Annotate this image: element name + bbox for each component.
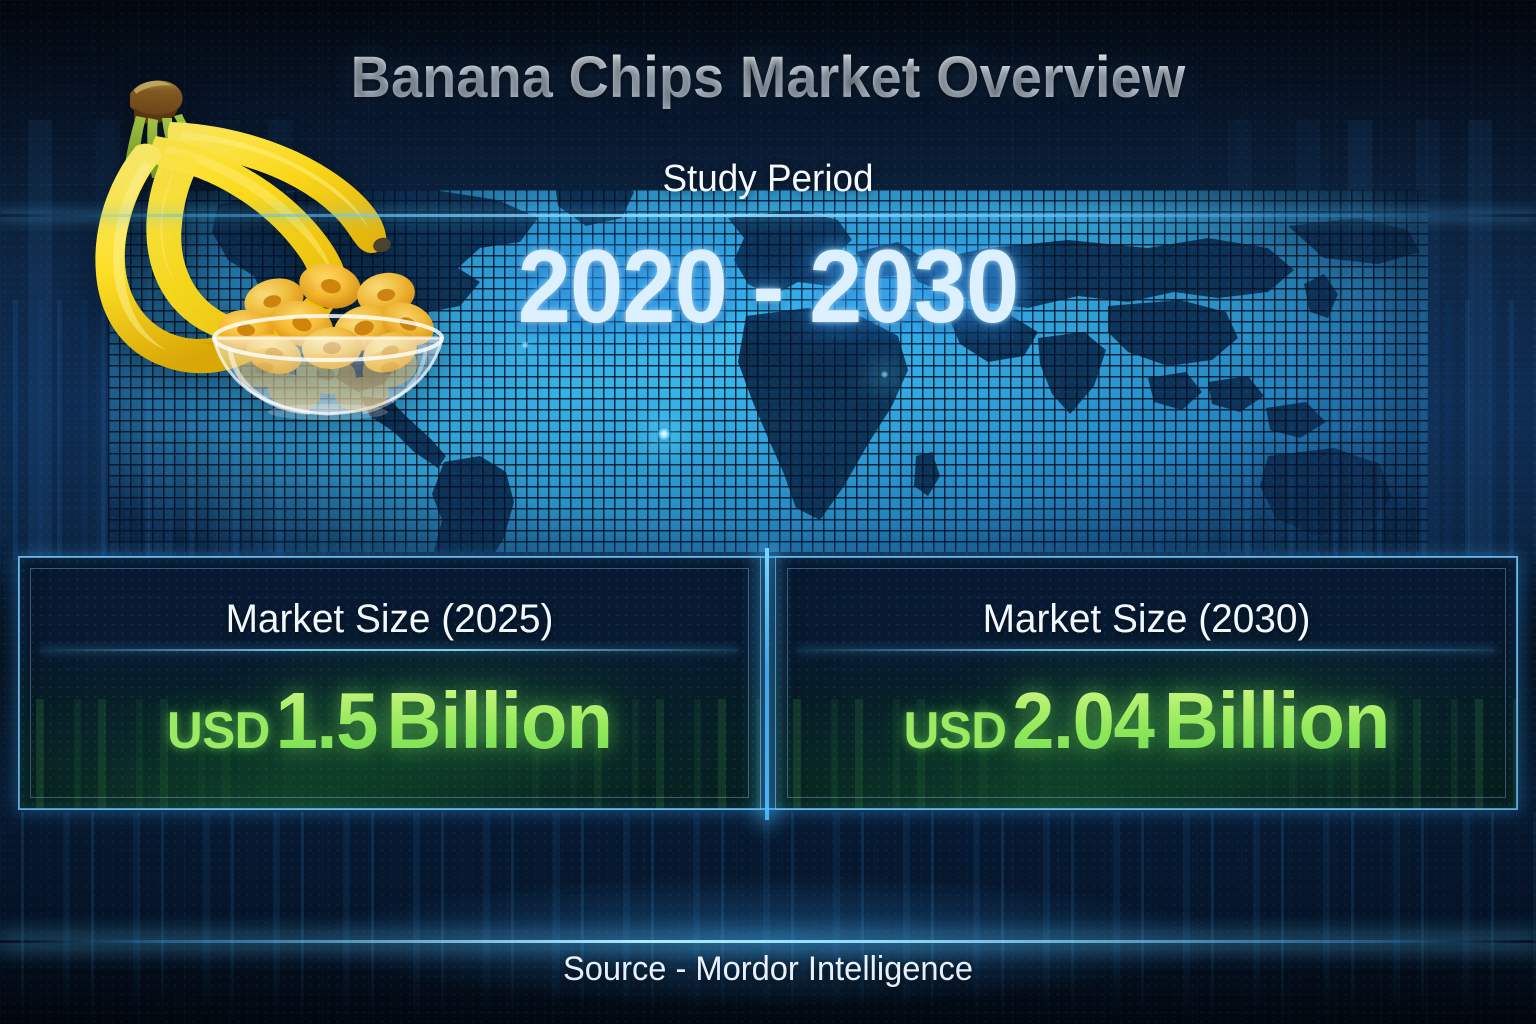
currency-label: USD (904, 702, 1007, 760)
footer-glow-line (0, 940, 1536, 943)
footer-zone: Source - Mordor Intelligence (0, 812, 1536, 1024)
panel-heading-2030: Market Size (2030) (787, 597, 1506, 642)
market-size-panel-2030[interactable]: Market Size (2030) USD2.04Billion (775, 556, 1518, 810)
value-number: 1.5 (276, 676, 377, 765)
study-period-range: 2020 - 2030 (61, 228, 1474, 347)
source-attribution: Source - Mordor Intelligence (31, 950, 1506, 989)
study-period-divider (0, 214, 1536, 217)
value-unit: Billion (1164, 676, 1390, 765)
panel-value-2030: USD2.04Billion (795, 675, 1499, 767)
study-period-label: Study Period (23, 158, 1513, 201)
value-unit: Billion (386, 676, 612, 765)
panel-divider (798, 649, 1495, 651)
currency-label: USD (167, 702, 270, 760)
value-number: 2.04 (1012, 676, 1154, 765)
panels-center-divider (765, 548, 769, 820)
panel-value-2025: USD1.5Billion (38, 675, 742, 767)
infographic-canvas: Banana Chips Market Overview Study Perio… (0, 0, 1536, 1024)
panel-divider (41, 649, 738, 651)
panel-heading-2025: Market Size (2025) (30, 597, 749, 642)
market-size-panel-2025[interactable]: Market Size (2025) USD1.5Billion (18, 556, 761, 810)
page-title: Banana Chips Market Overview (31, 44, 1506, 111)
